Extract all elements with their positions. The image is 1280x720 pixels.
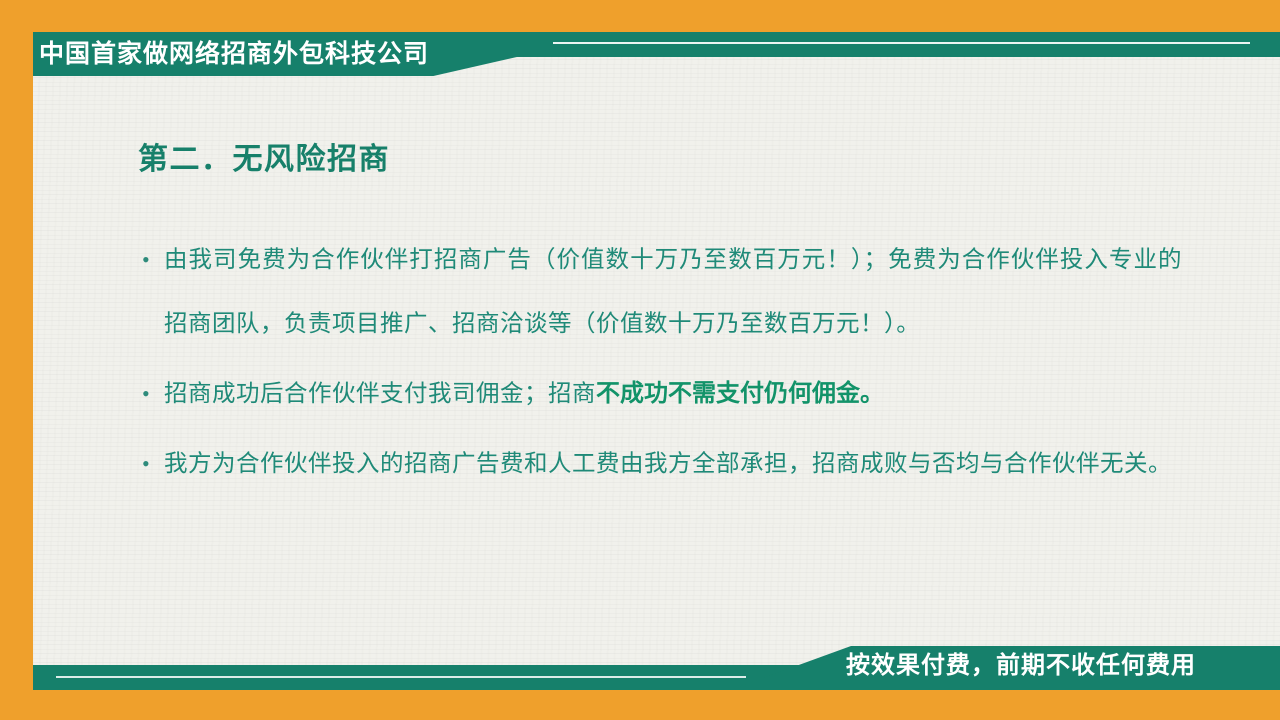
bullet-marker-icon: • [142,432,164,496]
header-rule [545,42,1250,44]
bullet-marker-icon: • [142,362,164,426]
slide-canvas: 中国首家做网络招商外包科技公司 第二．无风险招商 • 由我司免费为合作伙伴打招商… [0,0,1280,720]
footer-tagline: 按效果付费，前期不收任何费用 [846,649,1246,683]
list-item: • 招商成功后合作伙伴支付我司佣金；招商不成功不需支付仍何佣金。 [142,362,1182,426]
body-text: 我方为合作伙伴投入的招商广告费和人工费由我方全部承担，招商成败与否均与合作伙伴无… [164,451,1172,477]
page-title: 第二．无风险招商 [138,134,390,178]
bullet-text-3: 我方为合作伙伴投入的招商广告费和人工费由我方全部承担，招商成败与否均与合作伙伴无… [164,432,1182,496]
bullet-text-1: 由我司免费为合作伙伴打招商广告（价值数十万乃至数百万元！）；免费为合作伙伴投入专… [164,228,1182,356]
emphasis-text: 不成功不需支付仍何佣金。 [596,380,884,407]
footer-rule [56,676,746,678]
body-text: 招商成功后合作伙伴支付我司佣金；招商 [164,381,596,407]
bullet-list: • 由我司免费为合作伙伴打招商广告（价值数十万乃至数百万元！）；免费为合作伙伴投… [142,228,1182,502]
bullet-marker-icon: • [142,228,164,292]
bullet-text-2: 招商成功后合作伙伴支付我司佣金；招商不成功不需支付仍何佣金。 [164,362,1182,426]
body-text: 由我司免费为合作伙伴打招商广告（价值数十万乃至数百万元！）；免费为合作伙伴投入专… [164,247,1182,337]
header-title: 中国首家做网络招商外包科技公司 [39,37,509,71]
list-item: • 我方为合作伙伴投入的招商广告费和人工费由我方全部承担，招商成败与否均与合作伙… [142,432,1182,496]
list-item: • 由我司免费为合作伙伴打招商广告（价值数十万乃至数百万元！）；免费为合作伙伴投… [142,228,1182,356]
